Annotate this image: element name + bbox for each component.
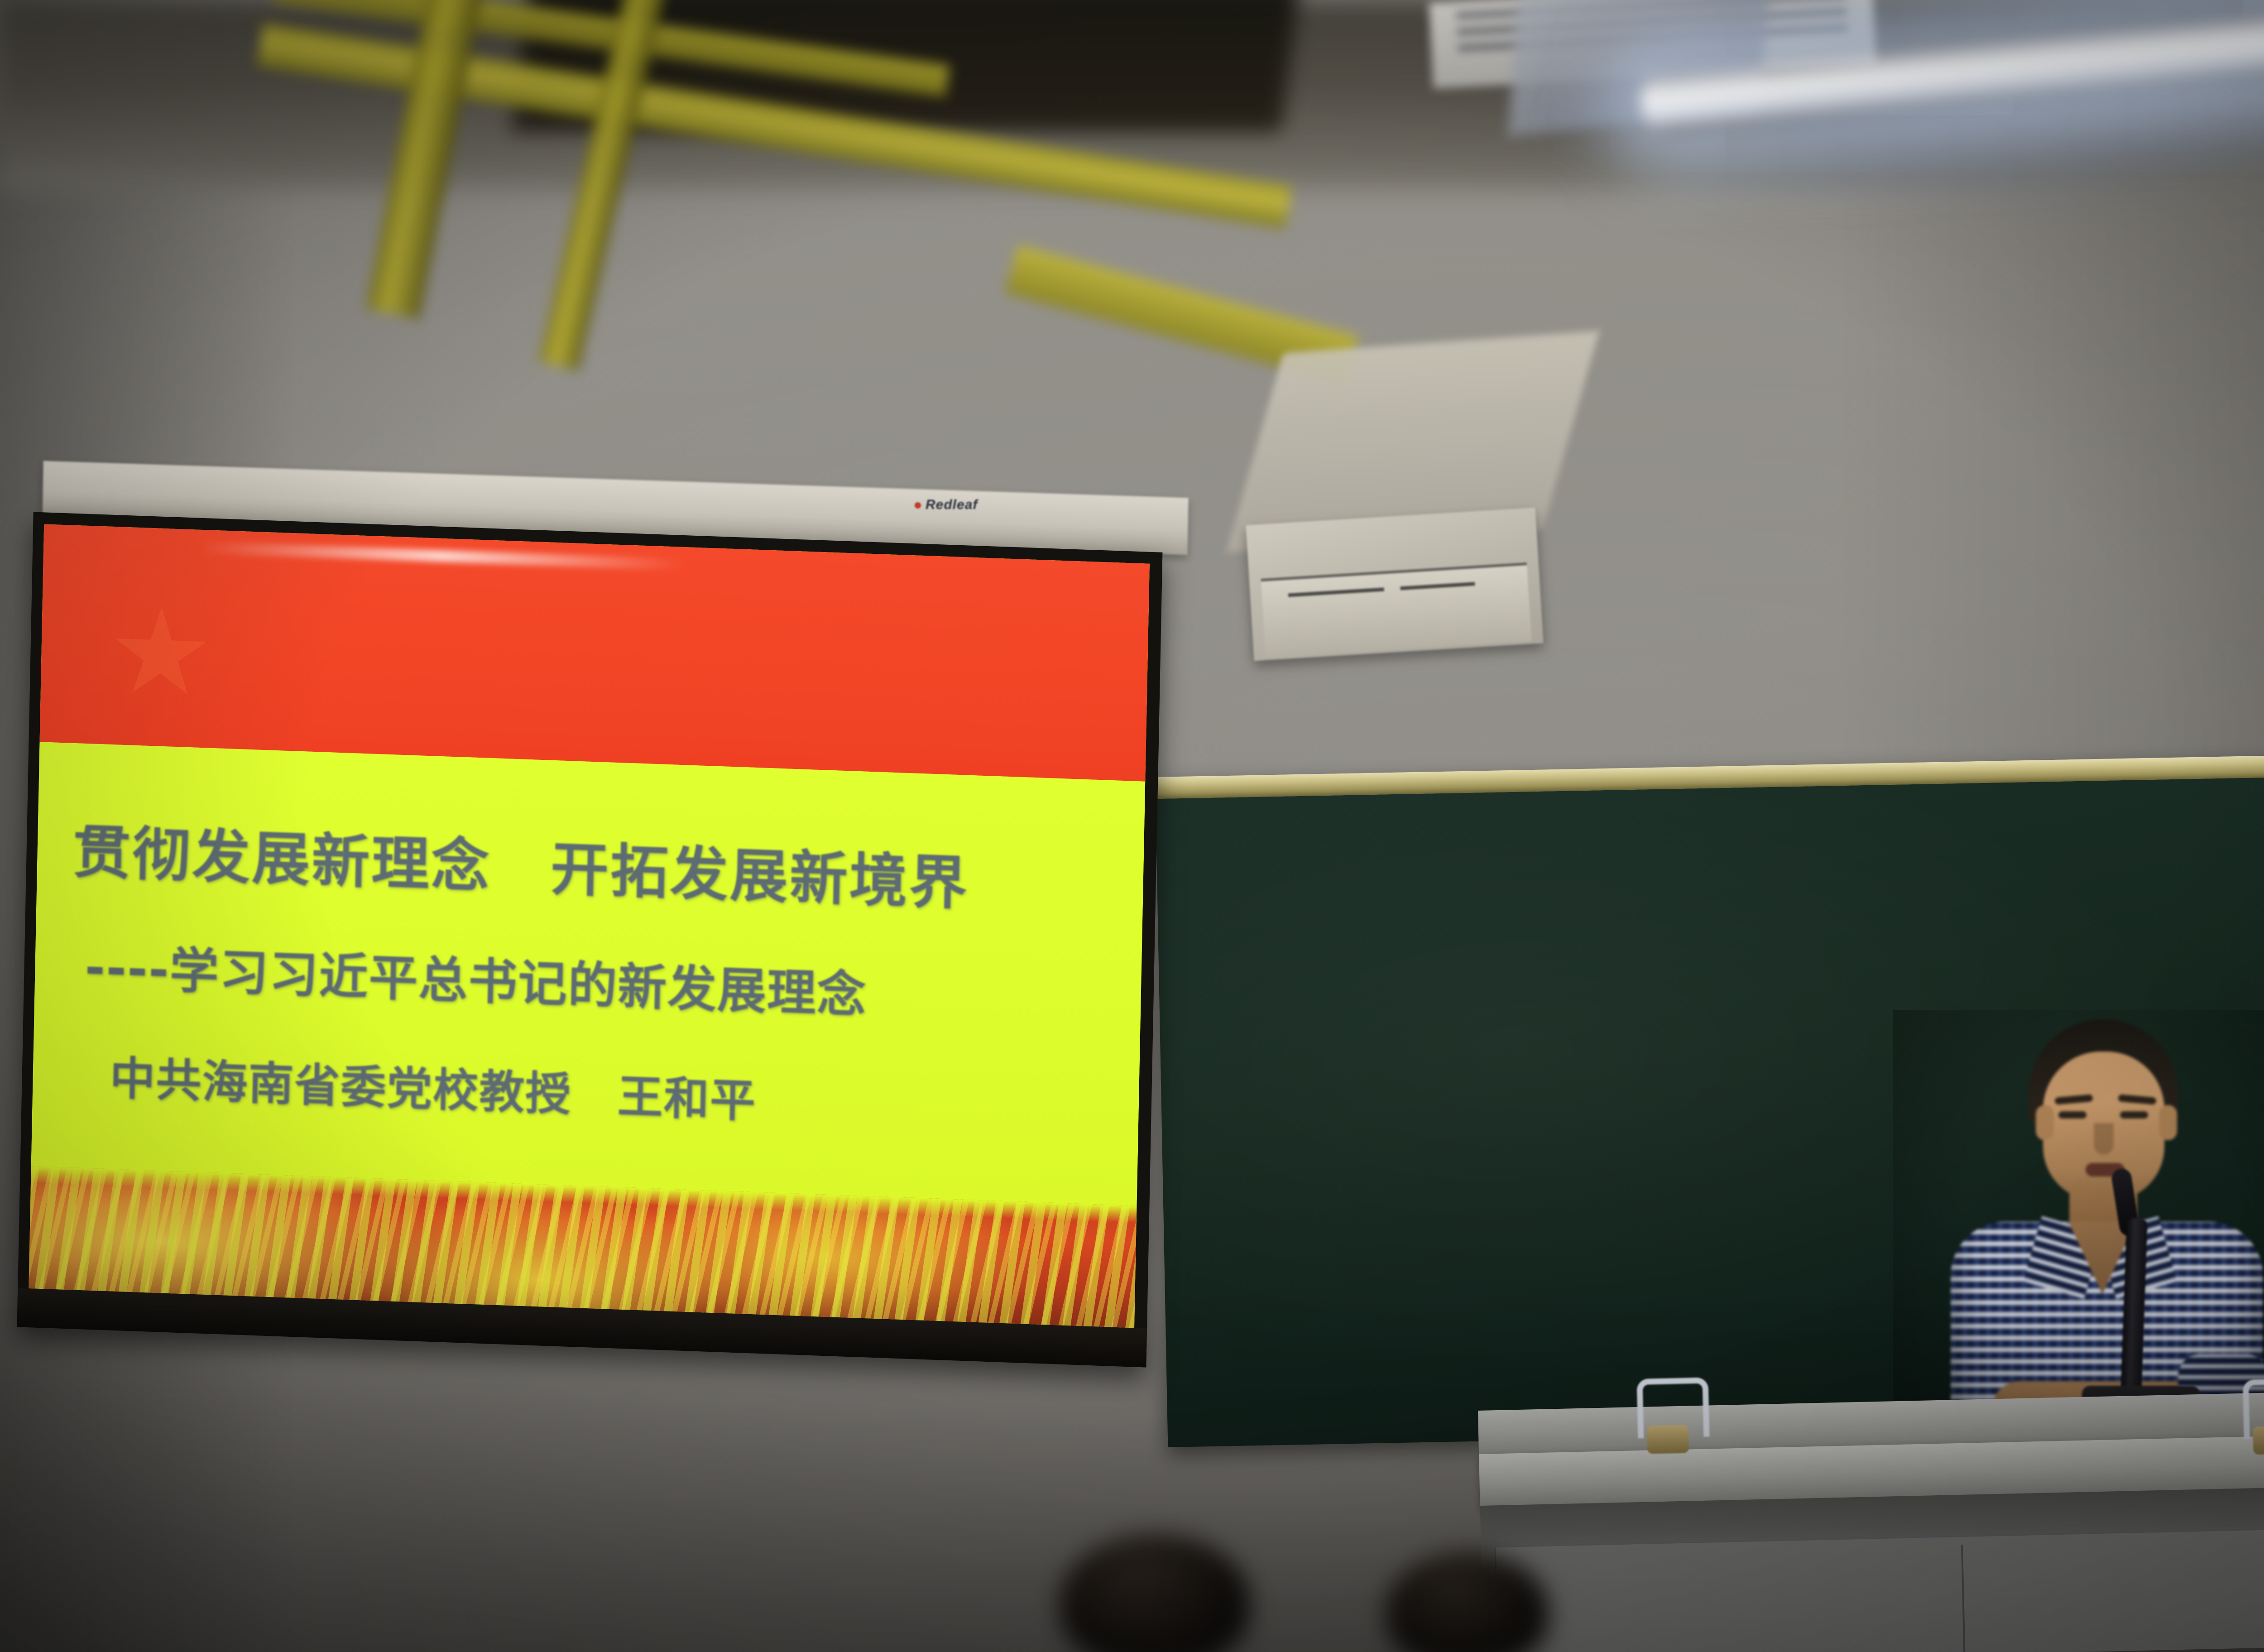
presenter-ear — [2159, 1105, 2177, 1140]
presenter-eye — [2120, 1111, 2148, 1119]
slide-author-line: 中共海南省委党校教授 王和平 — [32, 1039, 1139, 1144]
wall-bottom-shadow — [0, 1288, 2264, 1652]
slide-subtitle: ----学习习近平总书记的新发展理念 — [34, 927, 1142, 1037]
brand-dot-icon — [915, 502, 921, 509]
slide-text-block: 贯彻发展新理念 开拓发展新境界 ----学习习近平总书记的新发展理念 中共海南省… — [31, 742, 1146, 1205]
screen-brand-label: Redleaf — [915, 497, 978, 513]
hvac-ceiling-diffuser — [1246, 508, 1543, 661]
projection-screen: 贯彻发展新理念 开拓发展新境界 ----学习习近平总书记的新发展理念 中共海南省… — [17, 512, 1163, 1368]
presenter-eye — [2058, 1111, 2087, 1119]
slide-title: 贯彻发展新理念 开拓发展新境界 — [37, 804, 1144, 927]
screen-brand-text: Redleaf — [926, 497, 978, 512]
five-pointed-star-icon — [112, 605, 209, 703]
presenter-ear — [2036, 1105, 2054, 1140]
lecture-hall-photo: 贯彻发展新理念 开拓发展新境界 ----学习习近平总书记的新发展理念 中共海南省… — [0, 0, 2264, 1652]
projected-slide: 贯彻发展新理念 开拓发展新境界 ----学习习近平总书记的新发展理念 中共海南省… — [29, 524, 1150, 1328]
presenter-nose — [2094, 1123, 2114, 1155]
